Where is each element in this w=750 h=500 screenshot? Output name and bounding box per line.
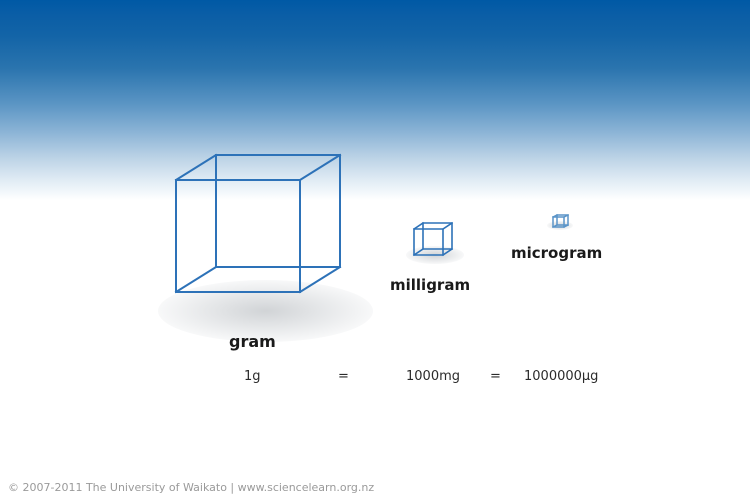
- unit-label-microgram: microgram: [511, 244, 602, 262]
- unit-equivalence-equation: 1g = 1000mg = 1000000µg: [230, 369, 610, 389]
- equation-equals-sign-second: =: [490, 369, 501, 384]
- background-gradient-sky: [0, 0, 750, 200]
- unit-label-milligram: milligram: [390, 276, 470, 294]
- equation-gram-value: 1g: [244, 369, 261, 384]
- diagram-canvas: gram milligram microgram 1g = 1000mg = 1…: [0, 0, 750, 500]
- equation-equals-sign-first: =: [338, 369, 349, 384]
- background-ground: [0, 200, 750, 500]
- wireframe-cube-gram-icon: [170, 148, 348, 300]
- equation-milligram-value: 1000mg: [406, 369, 460, 384]
- wireframe-cube-microgram-icon: [550, 212, 572, 232]
- wireframe-cube-milligram-icon: [411, 220, 455, 260]
- copyright-footer: © 2007-2011 The University of Waikato | …: [8, 481, 374, 494]
- equation-microgram-value: 1000000µg: [524, 369, 598, 384]
- unit-label-gram: gram: [229, 332, 276, 351]
